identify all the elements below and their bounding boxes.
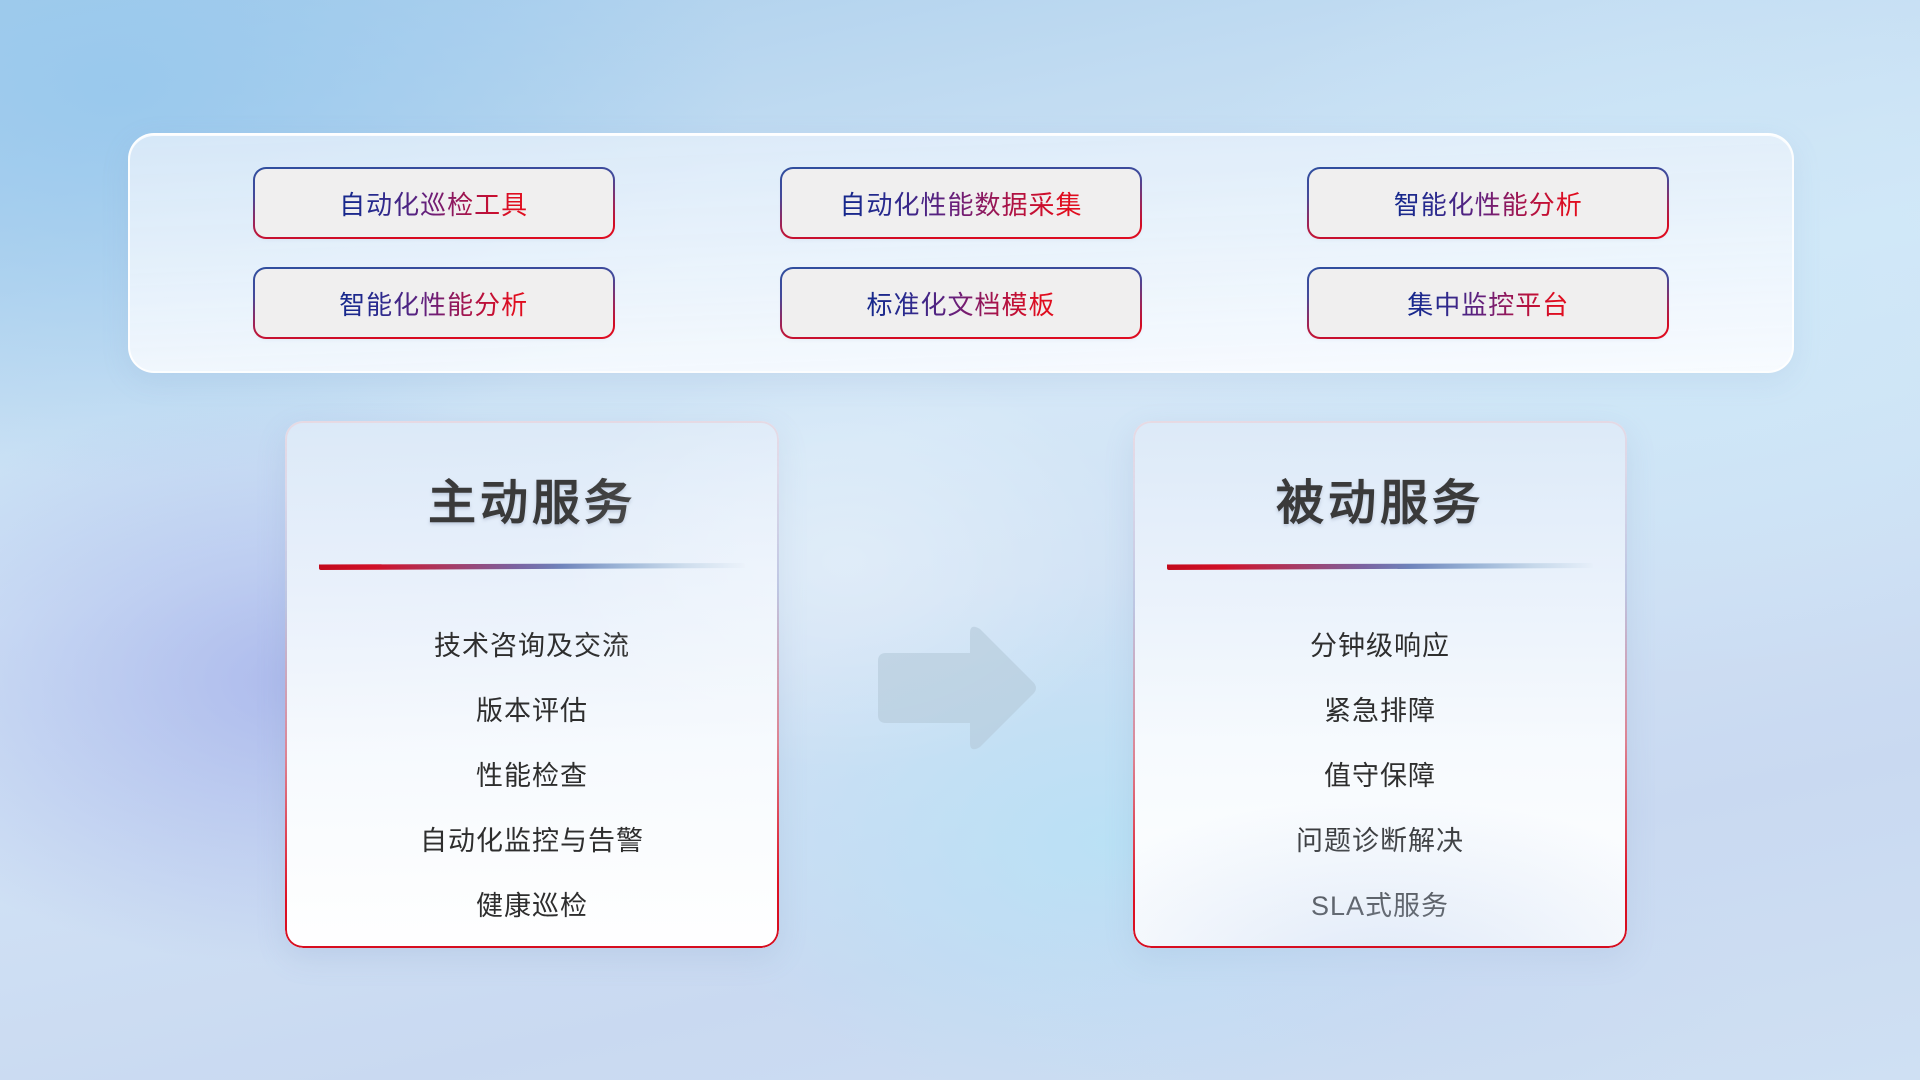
list-item[interactable]: SLA式服务 [1133, 874, 1627, 939]
capability-pill-label: 标准化文档模板 [866, 285, 1055, 322]
list-item[interactable]: 分钟级响应 [1133, 614, 1627, 679]
pill-inner: 自动化性能数据采集 [782, 169, 1140, 237]
capability-pill-label: 自动化巡检工具 [339, 185, 528, 222]
divider-bar [319, 563, 745, 570]
list-item[interactable]: 紧急排障 [1133, 679, 1627, 744]
capability-pill[interactable]: 集中监控平台 [1309, 269, 1667, 337]
service-list: 技术咨询及交流 版本评估 性能检查 自动化监控与告警 健康巡检 [285, 614, 779, 939]
list-item[interactable]: 版本评估 [285, 679, 779, 744]
capability-pill-label: 集中监控平台 [1407, 285, 1569, 322]
list-item[interactable]: 值守保障 [1133, 744, 1627, 809]
card-title: 被动服务 [1133, 463, 1627, 533]
pill-inner: 自动化巡检工具 [255, 169, 613, 237]
divider-bar [1167, 563, 1593, 570]
service-card-passive: 被动服务 分钟级响应 紧急排障 值守保障 问题诊断解决 SLA式服务 [1133, 421, 1627, 948]
capability-pill-label: 智能化性能分析 [339, 285, 528, 322]
capability-pill-label: 智能化性能分析 [1394, 185, 1583, 222]
capability-pill-label: 自动化性能数据采集 [839, 185, 1082, 222]
list-item[interactable]: 自动化监控与告警 [285, 809, 779, 874]
capability-pill[interactable]: 智能化性能分析 [1309, 169, 1667, 237]
service-list: 分钟级响应 紧急排障 值守保障 问题诊断解决 SLA式服务 [1133, 614, 1627, 939]
capability-pill[interactable]: 智能化性能分析 [255, 269, 613, 337]
list-item[interactable]: 技术咨询及交流 [285, 614, 779, 679]
pill-inner: 集中监控平台 [1309, 269, 1667, 337]
capability-pill[interactable]: 自动化巡检工具 [255, 169, 613, 237]
list-item[interactable]: 健康巡检 [285, 874, 779, 939]
capability-pill[interactable]: 标准化文档模板 [782, 269, 1140, 337]
pill-inner: 智能化性能分析 [1309, 169, 1667, 237]
list-item[interactable]: 问题诊断解决 [1133, 809, 1627, 874]
slide-canvas: 自动化巡检工具 自动化性能数据采集 智能化性能分析 智能化性能分析 标准化文档模… [0, 0, 1920, 1080]
service-card-active: 主动服务 技术咨询及交流 版本评估 性能检查 自动化监控与告警 健康巡检 [285, 421, 779, 948]
card-title-divider [1167, 563, 1593, 572]
pill-inner: 标准化文档模板 [782, 269, 1140, 337]
card-title: 主动服务 [285, 463, 779, 533]
flow-arrow-right-icon [874, 623, 1039, 753]
list-item[interactable]: 性能检查 [285, 744, 779, 809]
card-title-divider [319, 563, 745, 572]
pill-inner: 智能化性能分析 [255, 269, 613, 337]
capability-pill[interactable]: 自动化性能数据采集 [782, 169, 1140, 237]
capabilities-panel: 自动化巡检工具 自动化性能数据采集 智能化性能分析 智能化性能分析 标准化文档模… [128, 133, 1794, 373]
